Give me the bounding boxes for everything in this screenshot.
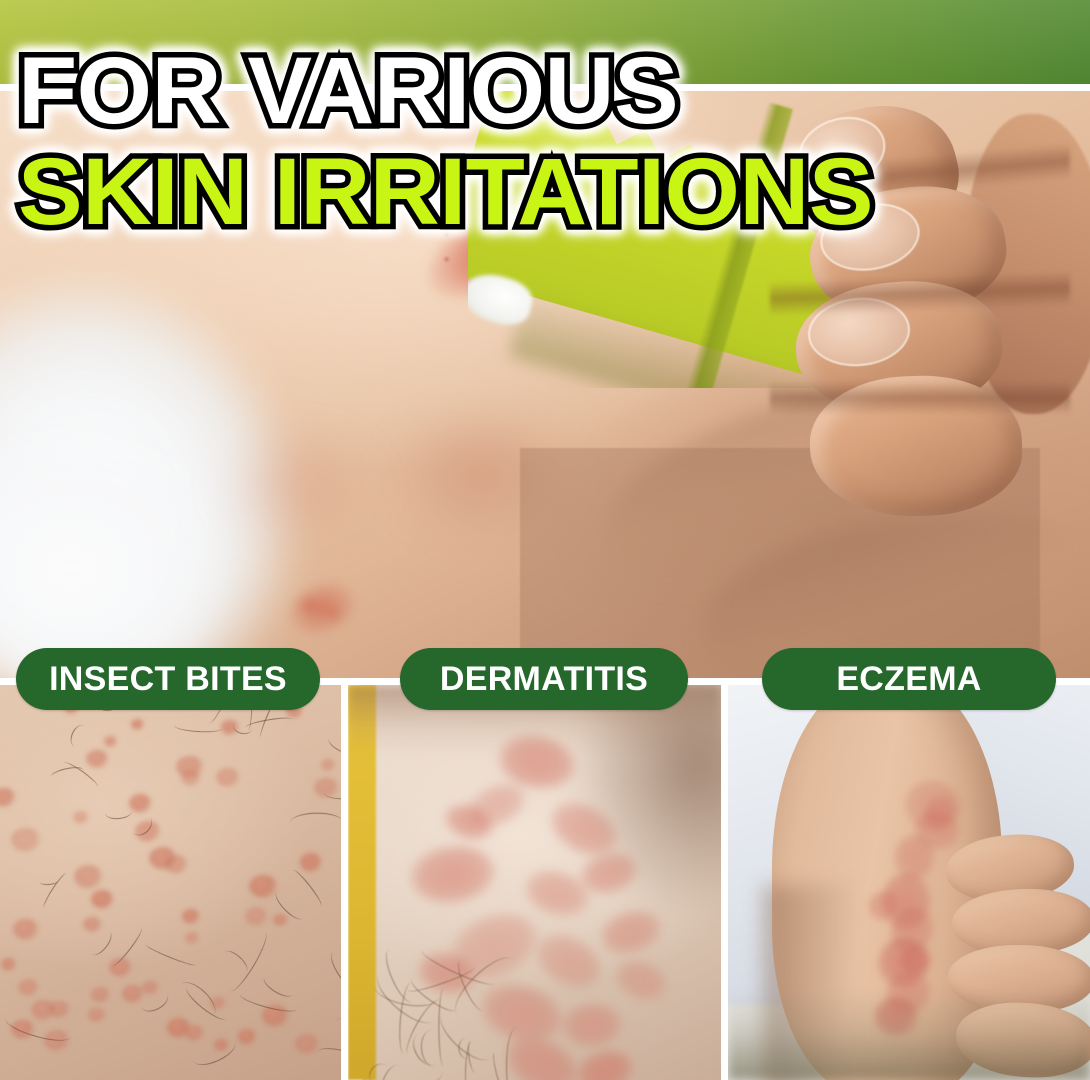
pill-label-eczema[interactable]: ECZEMA	[762, 648, 1056, 710]
pill-label-insect-bites[interactable]: INSECT BITES	[16, 648, 320, 710]
eczema-bottom-shadow	[728, 990, 1090, 1080]
vertical-divider-1	[341, 678, 348, 1080]
panel-eczema	[728, 685, 1090, 1080]
headline-line-1: FOR VARIOUS	[18, 44, 678, 139]
pill-label-dermatitis[interactable]: DERMATITIS	[400, 648, 688, 710]
faint-redness-b	[170, 388, 430, 588]
panel-insect-bites	[0, 685, 341, 1080]
pill-text: DERMATITIS	[440, 660, 648, 699]
pill-text: ECZEMA	[836, 660, 981, 699]
panel-dermatitis	[348, 685, 721, 1080]
headline-line-2: SKIN IRRITATIONS	[18, 145, 873, 240]
promo-poster: FOR VARIOUS SKIN IRRITATIONS IN	[0, 0, 1090, 1080]
vertical-divider-2	[721, 678, 728, 1080]
pill-text: INSECT BITES	[49, 660, 287, 699]
